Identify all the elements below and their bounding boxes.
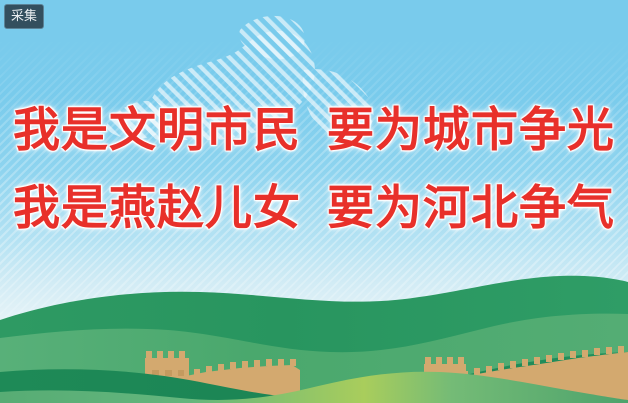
capture-button[interactable]: 采集: [4, 4, 44, 29]
landscape-illustration: [0, 0, 628, 403]
screenshot-canvas: 我是文明市民要为城市争光 我是燕赵儿女要为河北争气 采集: [0, 0, 628, 403]
